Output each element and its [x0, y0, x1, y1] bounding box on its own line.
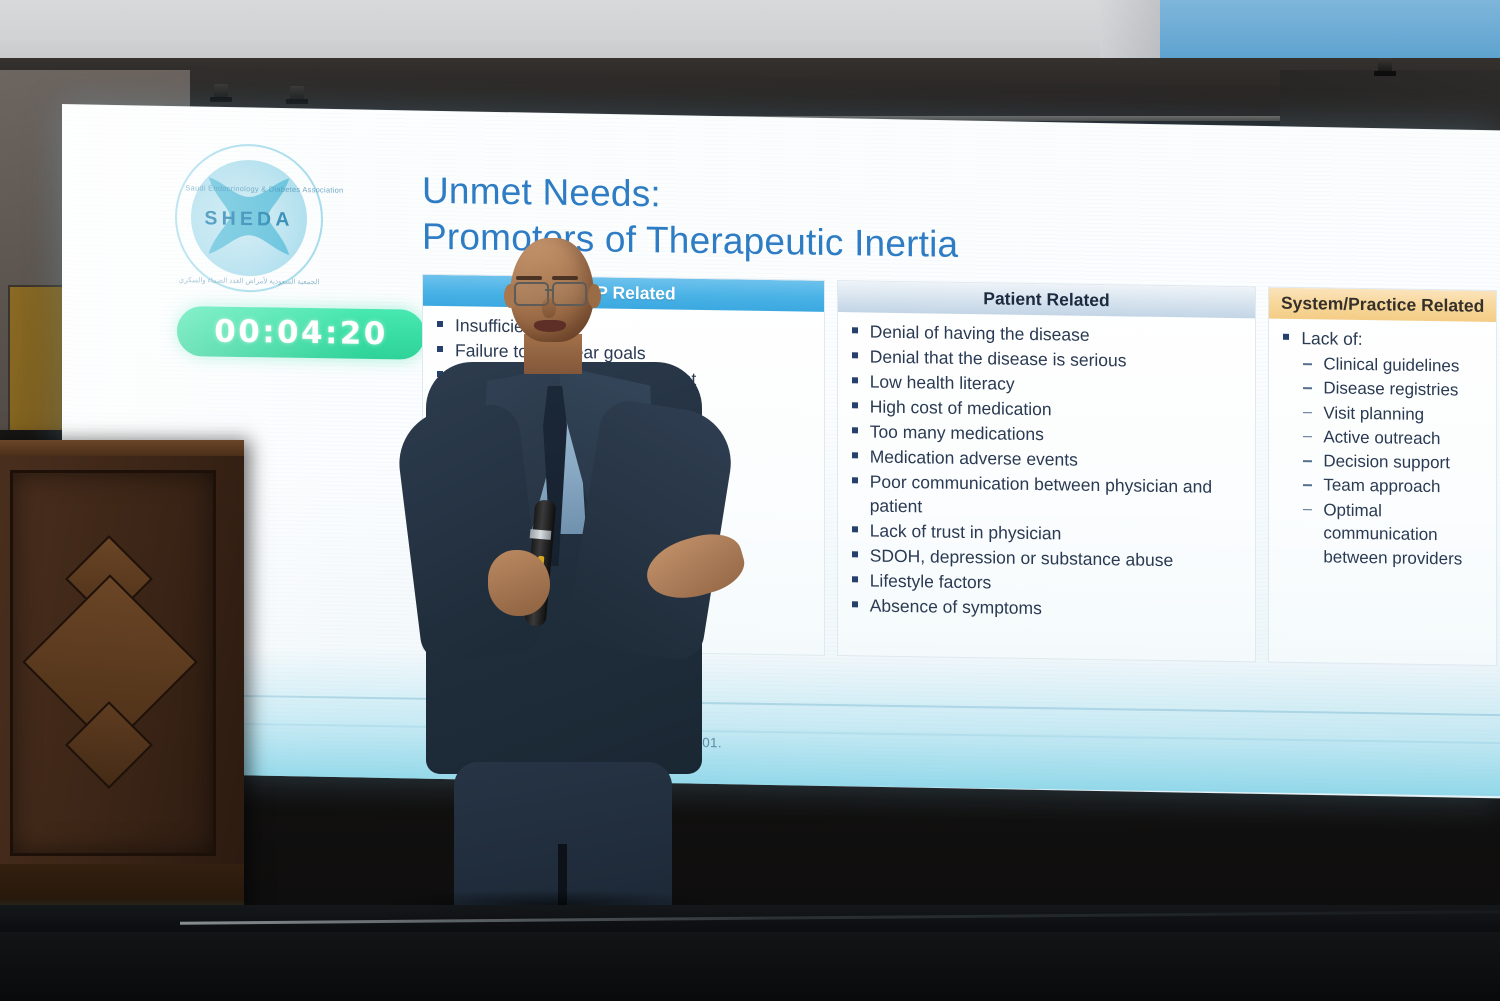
list-item: Lack of: [1277, 327, 1490, 354]
dash-bullet-icon [1303, 412, 1312, 414]
dash-bullet-icon [1303, 460, 1312, 462]
list-item: Optimal communication [1277, 497, 1490, 547]
stage-front-facade [0, 932, 1500, 1001]
dash-bullet-icon [1303, 387, 1312, 389]
presenter-mouth [534, 320, 566, 332]
presenter-hand-left [488, 550, 550, 616]
column-patient-related: Patient Related Denial of having the dis… [837, 280, 1257, 662]
dash-bullet-icon [1303, 363, 1312, 365]
timer-value: 00:04:20 [214, 314, 387, 353]
list-item: Team approach [1277, 473, 1490, 500]
square-bullet-icon [852, 576, 858, 582]
list-item: Poor communication between physician and… [846, 470, 1250, 524]
square-bullet-icon [852, 327, 858, 333]
logo-wordmark: SHEDA [175, 207, 323, 232]
square-bullet-icon [852, 551, 858, 557]
conference-photo-scene: Saudi Endocrinology & Diabetes Associati… [0, 0, 1500, 1001]
square-bullet-icon [852, 452, 858, 458]
list-item: Disease registries [1277, 376, 1490, 403]
column-body-system: Lack of: Clinical guidelines Disease reg… [1269, 319, 1496, 579]
column-system-practice-related: System/Practice Related Lack of: Clinica… [1268, 287, 1497, 666]
square-bullet-icon [852, 477, 858, 483]
screen-mount-bracket [290, 86, 304, 102]
square-bullet-icon [852, 402, 858, 408]
stage-floor [0, 905, 1500, 935]
list-item: Absence of symptoms [846, 594, 1250, 624]
screen-mount-bracket [214, 84, 228, 100]
podium-top-surface [0, 440, 244, 456]
upper-wall-blue-panel [1140, 0, 1500, 58]
eyeglasses-lens-right [552, 282, 587, 306]
projection-screen: Saudi Endocrinology & Diabetes Associati… [62, 104, 1500, 798]
dash-bullet-icon [1303, 436, 1312, 438]
presenter-ear-right [588, 284, 601, 308]
square-bullet-icon [1283, 334, 1289, 340]
sheda-logo: Saudi Endocrinology & Diabetes Associati… [175, 143, 323, 293]
column-header-system: System/Practice Related [1269, 288, 1496, 322]
list-item-continuation: between providers [1277, 545, 1490, 572]
square-bullet-icon [852, 352, 858, 358]
list-item: Clinical guidelines [1277, 352, 1490, 379]
screen-mount-bracket [1378, 58, 1392, 74]
square-bullet-icon [852, 427, 858, 433]
list-item: Visit planning [1277, 400, 1490, 427]
square-bullet-icon [852, 526, 858, 532]
eyeglasses-bridge [545, 289, 554, 291]
square-bullet-icon [852, 601, 858, 607]
presenter-nose [542, 298, 556, 318]
dash-bullet-icon [1303, 509, 1312, 511]
column-body-patient: Denial of having the disease Denial that… [838, 312, 1256, 631]
list-item: Active outreach [1277, 425, 1490, 452]
square-bullet-icon [852, 377, 858, 383]
countdown-timer-badge: 00:04:20 [177, 306, 425, 360]
presenter-figure [400, 238, 760, 938]
list-item: Decision support [1277, 449, 1490, 476]
dash-bullet-icon [1303, 484, 1312, 486]
